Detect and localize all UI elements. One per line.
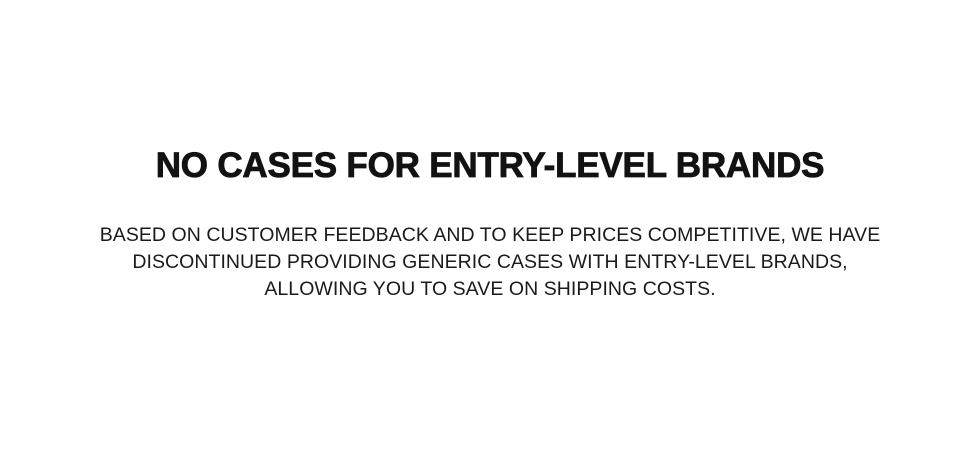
info-banner: NO CASES FOR ENTRY-LEVEL BRANDS BASED ON… [0,0,980,450]
banner-heading: NO CASES FOR ENTRY-LEVEL BRANDS [80,148,900,184]
banner-content: NO CASES FOR ENTRY-LEVEL BRANDS BASED ON… [80,148,900,303]
banner-body-text: BASED ON CUSTOMER FEEDBACK AND TO KEEP P… [94,184,886,303]
